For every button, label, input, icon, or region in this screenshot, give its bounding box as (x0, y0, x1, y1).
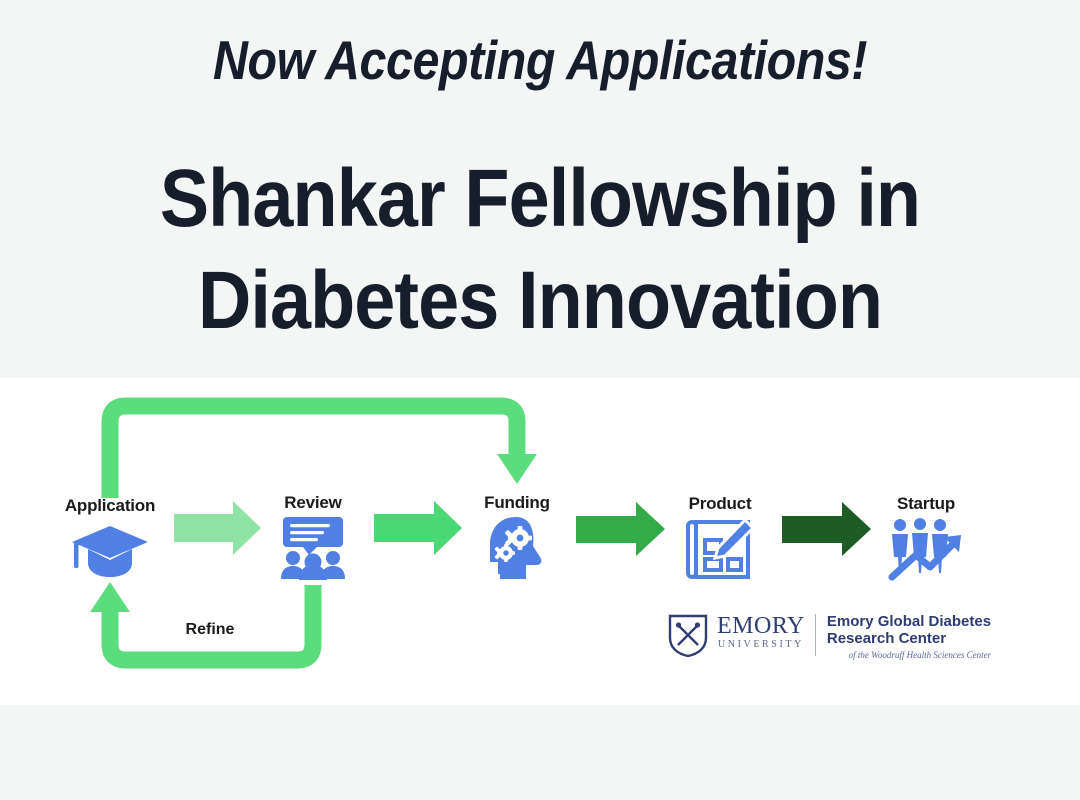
emory-divider (815, 614, 816, 656)
page-title-line-2: Diabetes Innovation (54, 250, 1026, 352)
emory-shield-icon (668, 614, 708, 663)
blueprint-pencil-icon (645, 517, 795, 581)
flow-stage-funding: Funding (442, 493, 592, 580)
flow-stage-label-funding: Funding (442, 493, 592, 513)
flow-stage-label-product: Product (645, 494, 795, 514)
flow-stage-review: Review (238, 493, 388, 580)
flow-stage-startup: Startup (851, 494, 1001, 581)
flow-stage-label-application: Application (35, 496, 185, 516)
emory-wordmark: EMORY UNIVERSITY (717, 614, 805, 651)
poster-root: Now Accepting Applications! Shankar Fell… (0, 0, 1080, 800)
page-title-line-1: Shankar Fellowship in (54, 148, 1026, 250)
emory-logo-lockup: EMORY UNIVERSITY Emory Global Diabetes R… (668, 610, 988, 672)
header-block: Now Accepting Applications! Shankar Fell… (0, 0, 1080, 378)
flow-stage-label-startup: Startup (851, 494, 1001, 514)
head-gears-icon (442, 516, 592, 580)
page-title: Shankar Fellowship in Diabetes Innovatio… (54, 148, 1026, 352)
presentation-audience-icon (238, 516, 388, 580)
emory-subtitle: UNIVERSITY (717, 639, 805, 651)
eyebrow-text: Now Accepting Applications! (65, 28, 1015, 92)
emory-name: EMORY (717, 614, 805, 638)
emory-center-block: Emory Global Diabetes Research Center of… (827, 613, 991, 661)
people-growth-chart-icon (851, 517, 1001, 581)
emory-center-line-2: Research Center (827, 630, 991, 647)
graduation-cap-icon (35, 519, 185, 583)
footer-strip (0, 705, 1080, 800)
emory-center-line-1: Emory Global Diabetes (827, 613, 991, 630)
emory-center-note: of the Woodruff Health Sciences Center (827, 650, 991, 661)
flow-stage-label-review: Review (238, 493, 388, 513)
flow-stage-product: Product (645, 494, 795, 581)
flow-loop-label-refine: Refine (160, 621, 260, 639)
flow-stage-application: Application (35, 496, 185, 583)
loop-application-to-funding (110, 406, 537, 498)
